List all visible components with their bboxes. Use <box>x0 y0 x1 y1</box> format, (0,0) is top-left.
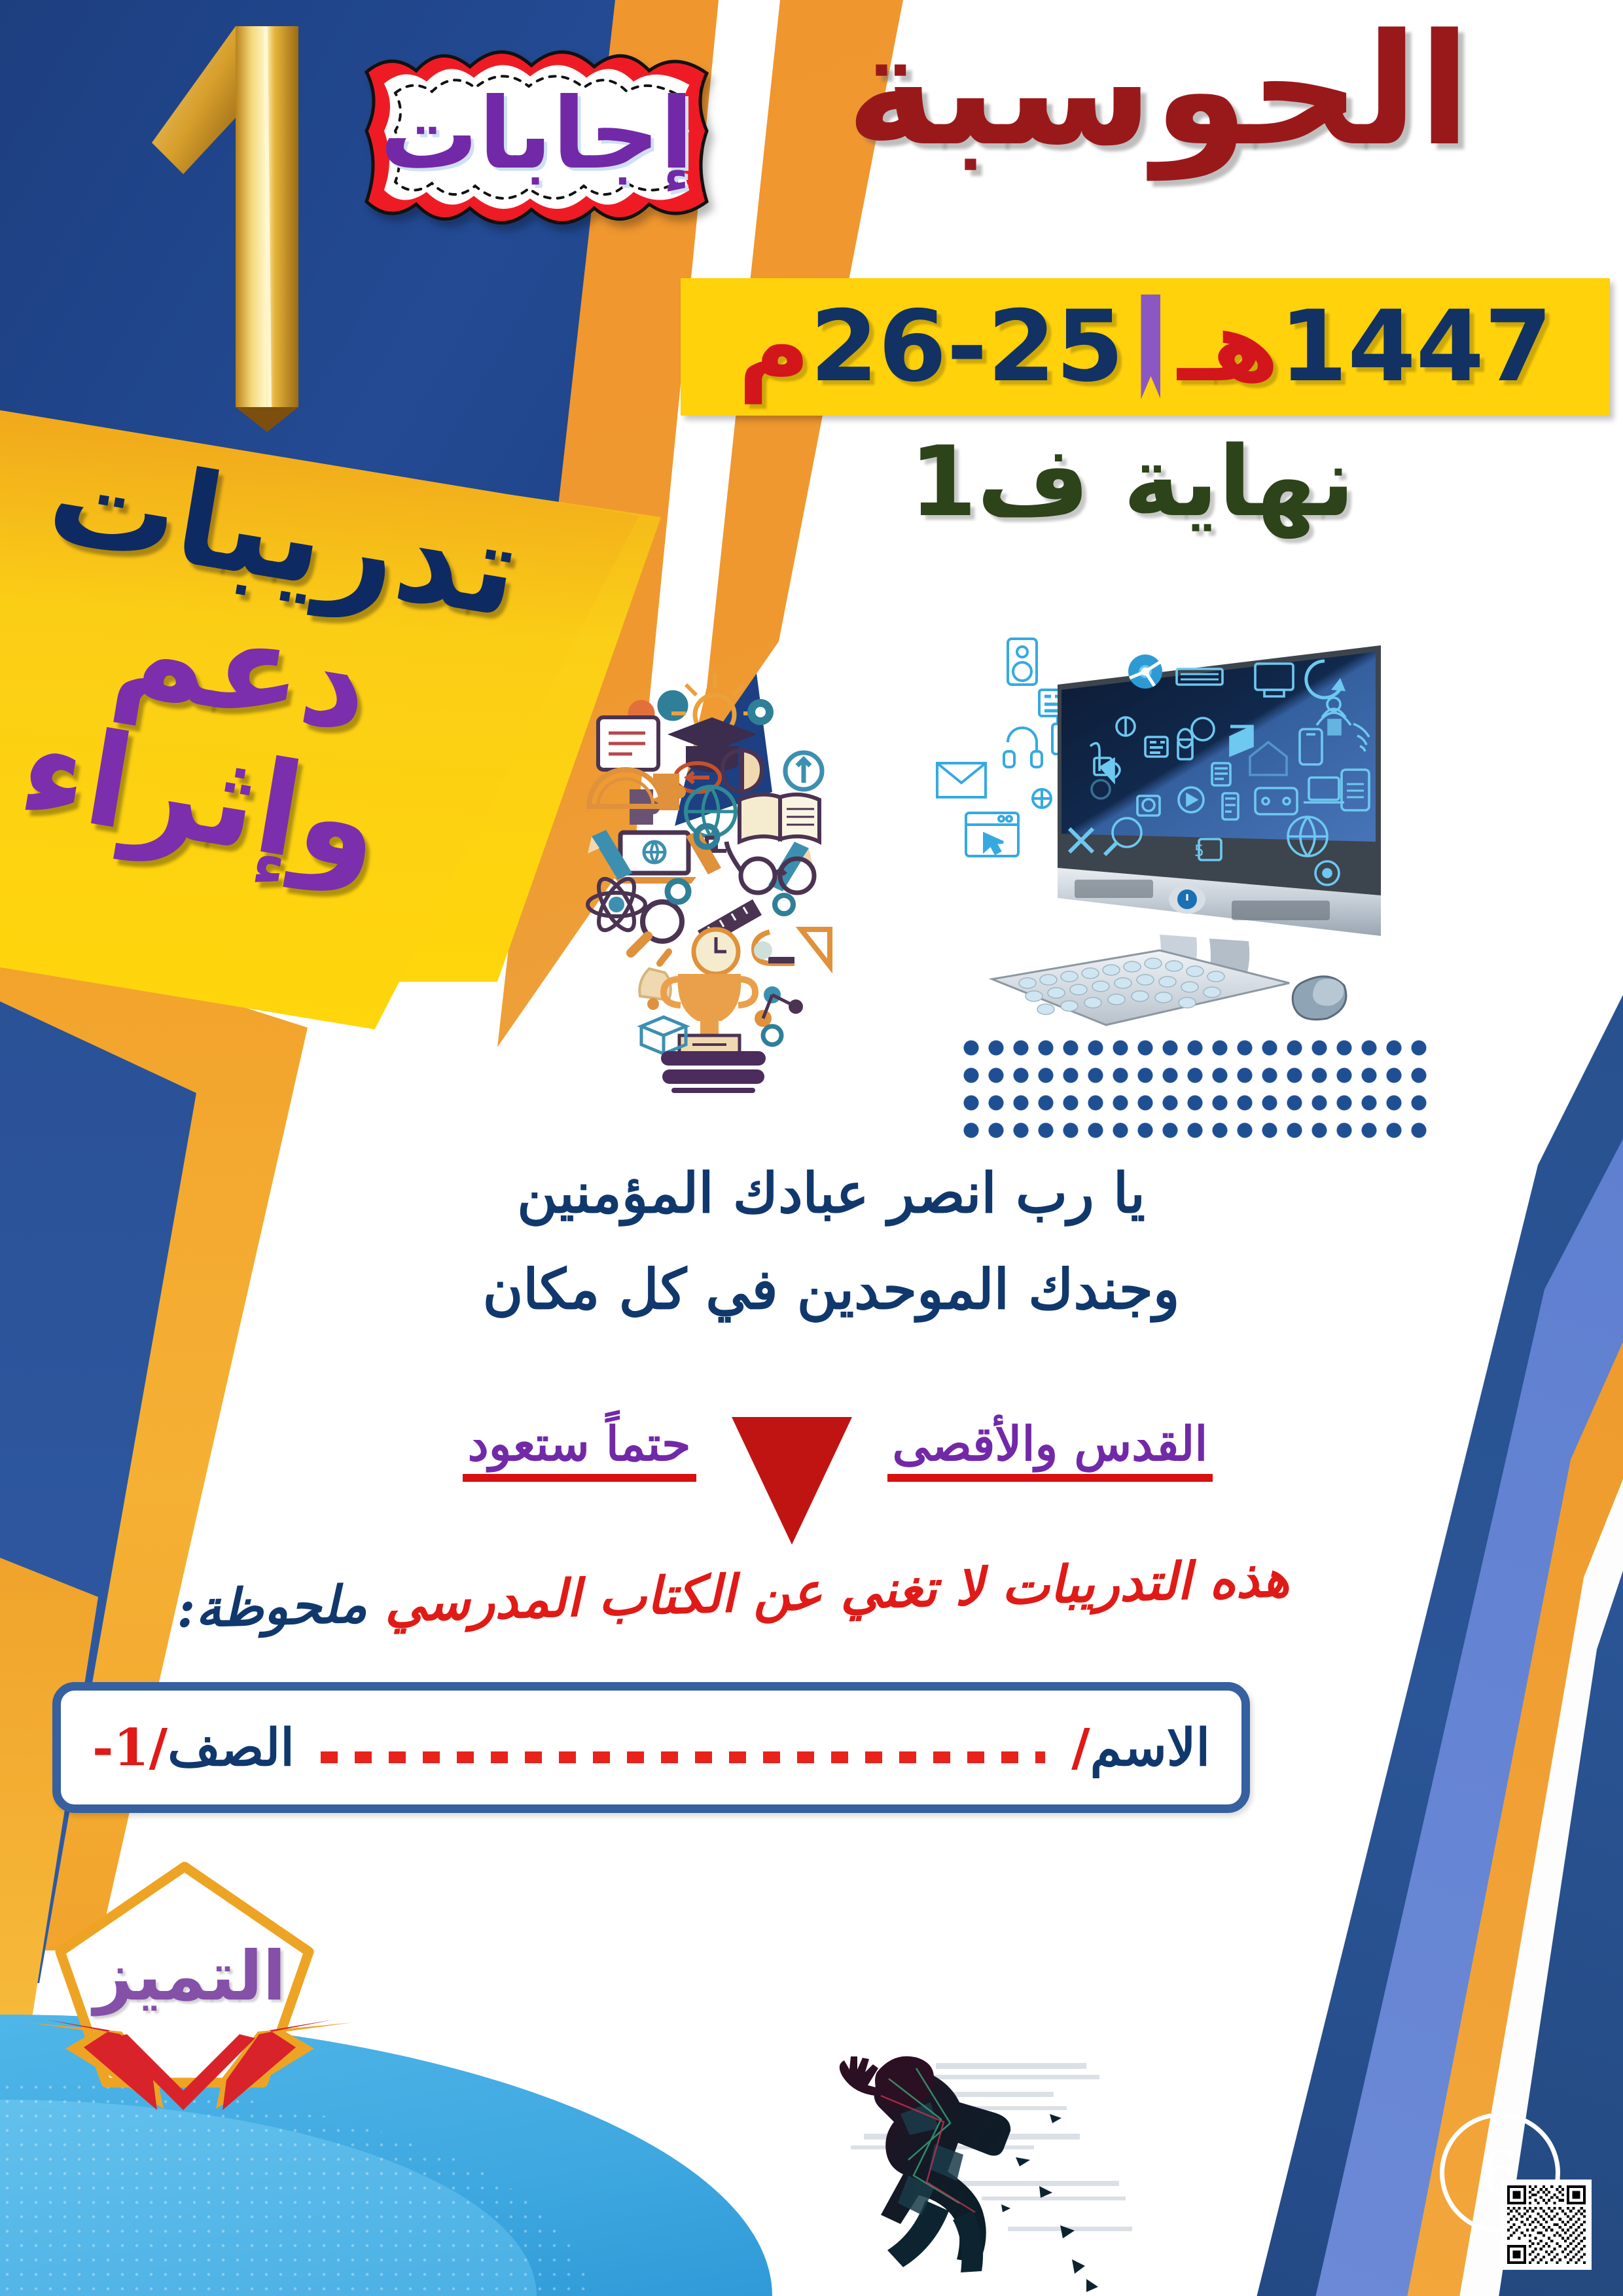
dua-line-1: يا رب انصر عبادك المؤمنين <box>366 1158 1296 1227</box>
qr-code-icon[interactable] <box>1501 2179 1592 2270</box>
excellence-emblem-label: التميز <box>13 1936 366 2016</box>
dua-line-2: وجندك الموحدين في كل مكان <box>366 1255 1296 1323</box>
gregorian-year: 26-25م <box>738 290 1124 404</box>
excellence-emblem: التميز <box>13 1826 366 2114</box>
palestine-slogan-right: القدس والأقصى <box>887 1401 1213 1482</box>
education-lightbulb-icon <box>576 661 851 1093</box>
palestine-flag-triangle-icon <box>732 1417 852 1545</box>
training-banner: تدريبات دعم وإثراء <box>0 406 671 1090</box>
dua-text: يا رب انصر عبادك المؤمنين وجندك الموحدين… <box>366 1158 1296 1323</box>
name-field-label: الاسم/ <box>1071 1718 1210 1778</box>
hijri-year-suffix: هـ <box>1177 290 1279 404</box>
bookmark-icon <box>1141 295 1160 399</box>
gold-numeral-one-icon <box>137 20 360 432</box>
class-field-label: الصف/1- <box>92 1718 294 1778</box>
palestine-slogan-row: القدس والأقصى حتماً ستعود <box>406 1401 1270 1532</box>
page-title: الحوسبة <box>733 0 1584 181</box>
name-input-line[interactable] <box>321 1751 1045 1763</box>
gregorian-year-number: 26-25 <box>810 290 1124 404</box>
hijri-year-number: 1447 <box>1279 290 1552 404</box>
desktop-computer-icon: 5 <box>929 609 1387 1034</box>
student-info-box[interactable]: الاسم/ الصف/1- <box>52 1682 1250 1813</box>
worksheet-cover-page: إجابات الحوسبة 1447هـ 26-25م نهاية ف1 تد… <box>0 0 1623 2296</box>
academic-year-banner: 1447هـ 26-25م <box>681 278 1610 416</box>
hijri-year: 1447هـ <box>1177 290 1552 404</box>
dot-grid-pattern <box>959 1034 1430 1145</box>
answers-badge-label: إجابات <box>353 33 720 242</box>
semester-label: نهاية ف1 <box>720 425 1544 538</box>
palestine-slogan-left: حتماً ستعود <box>463 1401 696 1482</box>
running-athlete-icon <box>785 2036 1191 2296</box>
note-label: ملحوظة: <box>176 1575 368 1640</box>
answers-badge: إجابات <box>353 33 720 242</box>
gregorian-year-suffix: م <box>738 290 810 404</box>
svg-text:5: 5 <box>1194 842 1204 860</box>
